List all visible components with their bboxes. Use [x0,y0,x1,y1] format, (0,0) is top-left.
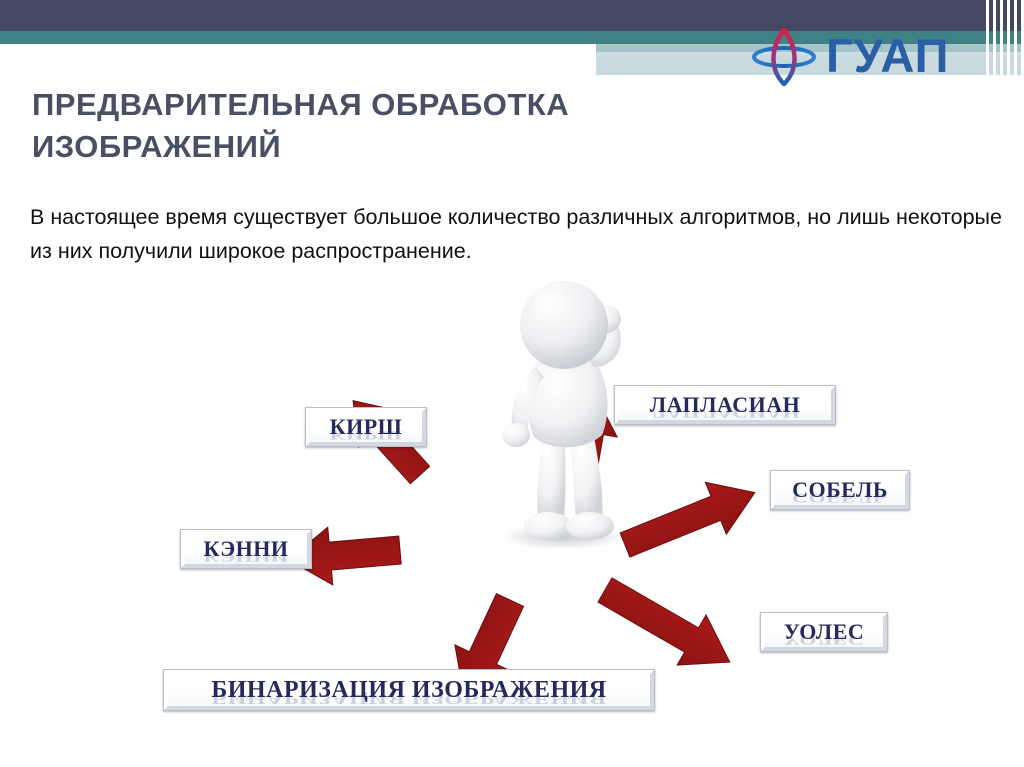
label-binarization[interactable]: БИНАРИЗАЦИЯ ИЗОБРАЖЕНИЯ БИНАРИЗАЦИЯ ИЗОБ… [163,669,655,711]
guap-logo: ГУАП [748,26,952,88]
label-sobel-text: СОБЕЛЬ [792,477,888,503]
guap-orbit-icon [748,26,820,88]
body-paragraph: В настоящее время существует большое кол… [30,200,1005,268]
label-kirsh-text: КИРШ [330,414,403,440]
label-wallace-text: УОЛЕС [784,619,865,645]
slide: ГУАП ПРЕДВАРИТЕЛЬНАЯ ОБРАБОТКА ИЗОБРАЖЕН… [0,0,1024,767]
label-laplasian-text: ЛАПЛАСИАН [650,392,801,418]
label-binarization-text: БИНАРИЗАЦИЯ ИЗОБРАЖЕНИЯ [211,677,606,704]
label-canny[interactable]: КЭННИ КЭННИ [180,529,312,569]
header-right-stripes [982,0,1024,75]
label-laplasian[interactable]: ЛАПЛАСИАН ЛАПЛАСИАН [614,385,836,425]
page-title-line2: ИЗОБРАЖЕНИЙ [32,126,732,168]
page-title: ПРЕДВАРИТЕЛЬНАЯ ОБРАБОТКА ИЗОБРАЖЕНИЙ [32,84,732,168]
header-white-notch [0,44,596,72]
label-wallace[interactable]: УОЛЕС УОЛЕС [760,612,888,652]
label-sobel[interactable]: СОБЕЛЬ СОБЕЛЬ [770,470,910,510]
label-canny-text: КЭННИ [204,536,289,562]
label-kirsh[interactable]: КИРШ КИРШ [305,407,427,447]
page-title-line1: ПРЕДВАРИТЕЛЬНАЯ ОБРАБОТКА [32,84,732,126]
guap-logo-text: ГУАП [826,28,949,84]
algorithms-diagram: КИРШ КИРШ ЛАПЛАСИАН ЛАПЛАСИАН СОБЕЛЬ СОБ… [0,265,1024,735]
